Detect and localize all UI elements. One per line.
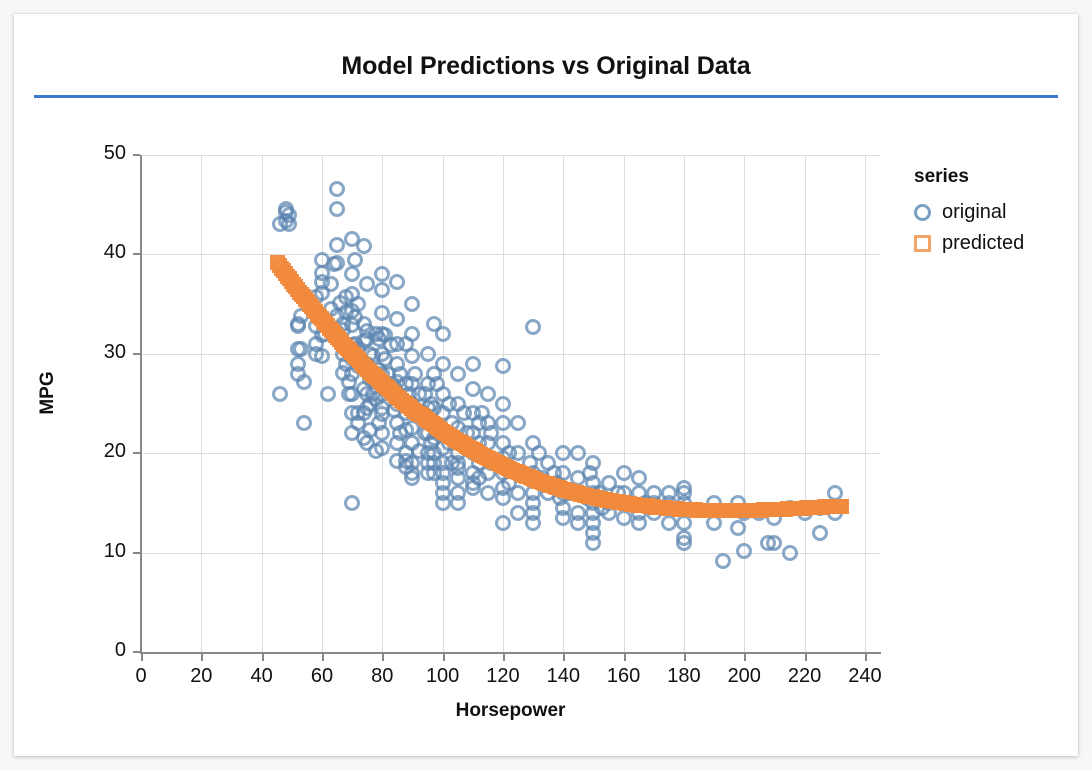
- data-point-original: [495, 490, 511, 506]
- data-point-original: [435, 356, 451, 372]
- data-point-original: [420, 346, 436, 362]
- x-tick-label: 240: [835, 665, 895, 688]
- x-tick: [322, 654, 324, 661]
- data-point-original: [480, 386, 496, 402]
- y-tick: [133, 353, 140, 355]
- data-point-original: [585, 455, 601, 471]
- x-tick-label: 80: [352, 665, 412, 688]
- x-tick-label: 140: [533, 665, 593, 688]
- circle-marker-icon: [914, 204, 931, 221]
- data-point-original: [585, 535, 601, 551]
- data-point-original: [616, 465, 632, 481]
- x-axis-line: [140, 652, 881, 654]
- data-point-original: [329, 255, 345, 271]
- data-point-original: [329, 237, 345, 253]
- x-tick: [744, 654, 746, 661]
- data-point-original: [570, 515, 586, 531]
- data-point-original: [281, 216, 297, 232]
- x-tick: [563, 654, 565, 661]
- data-point-original: [344, 266, 360, 282]
- data-point-original: [495, 415, 511, 431]
- data-point-original: [344, 495, 360, 511]
- data-point-original: [730, 520, 746, 536]
- data-point-original: [555, 510, 571, 526]
- x-tick: [201, 654, 203, 661]
- x-tick-label: 180: [654, 665, 714, 688]
- y-tick: [133, 452, 140, 454]
- y-tick-label: 20: [74, 440, 126, 463]
- data-point-original: [495, 358, 511, 374]
- legend-title: series: [914, 166, 1064, 188]
- data-point-original: [450, 470, 466, 486]
- data-point-original: [510, 485, 526, 501]
- x-tick-label: 20: [171, 665, 231, 688]
- data-point-original: [465, 381, 481, 397]
- data-point-original: [525, 319, 541, 335]
- data-point-original: [450, 366, 466, 382]
- data-point-original: [510, 505, 526, 521]
- data-point-original: [323, 276, 339, 292]
- data-point-original: [450, 495, 466, 511]
- data-point-original: [404, 470, 420, 486]
- data-point-original: [782, 545, 798, 561]
- legend-label-predicted: predicted: [942, 232, 1024, 255]
- x-tick: [624, 654, 626, 661]
- x-tick: [262, 654, 264, 661]
- data-point-original: [314, 348, 330, 364]
- y-tick: [133, 552, 140, 554]
- x-tick-label: 40: [232, 665, 292, 688]
- square-marker-icon: [914, 235, 931, 252]
- data-marker-layer: [141, 155, 880, 652]
- x-tick: [503, 654, 505, 661]
- y-tick-label: 40: [74, 241, 126, 264]
- y-tick: [133, 154, 140, 156]
- data-point-original: [272, 386, 288, 402]
- data-point-original: [480, 485, 496, 501]
- data-point-original: [296, 415, 312, 431]
- x-tick-label: 0: [111, 665, 171, 688]
- data-point-original: [631, 515, 647, 531]
- data-point-original: [389, 311, 405, 327]
- data-point-original: [465, 356, 481, 372]
- data-point-original: [525, 515, 541, 531]
- data-point-original: [347, 252, 363, 268]
- legend-item-predicted[interactable]: predicted: [914, 228, 1064, 259]
- x-tick-label: 160: [594, 665, 654, 688]
- data-point-original: [374, 282, 390, 298]
- data-point-original: [555, 445, 571, 461]
- x-tick: [443, 654, 445, 661]
- plot-wrapper: 020406080100120140160180200220240 010203…: [14, 14, 1078, 756]
- data-point-original: [495, 515, 511, 531]
- legend-item-original[interactable]: original: [914, 197, 1064, 228]
- data-point-original: [570, 445, 586, 461]
- data-point-original: [320, 386, 336, 402]
- data-point-original: [374, 305, 390, 321]
- x-tick-label: 60: [292, 665, 352, 688]
- data-point-original: [293, 341, 309, 357]
- x-tick: [684, 654, 686, 661]
- data-point-original: [350, 296, 366, 312]
- x-tick: [141, 654, 143, 661]
- y-tick: [133, 253, 140, 255]
- x-tick-label: 200: [714, 665, 774, 688]
- data-point-original: [329, 181, 345, 197]
- data-point-original: [404, 296, 420, 312]
- data-point-original: [736, 543, 752, 559]
- data-point-original: [495, 396, 511, 412]
- x-tick: [805, 654, 807, 661]
- data-point-original: [510, 415, 526, 431]
- data-point-original: [374, 440, 390, 456]
- y-tick-label: 0: [74, 639, 126, 662]
- plot-area: [141, 155, 880, 652]
- data-point-original: [766, 535, 782, 551]
- x-tick: [382, 654, 384, 661]
- data-point-original: [812, 525, 828, 541]
- data-point-original: [715, 553, 731, 569]
- y-tick-label: 30: [74, 341, 126, 364]
- legend-label-original: original: [942, 201, 1006, 224]
- data-point-original: [329, 201, 345, 217]
- data-point-original: [404, 348, 420, 364]
- data-point-original: [359, 276, 375, 292]
- y-axis-title: MPG: [37, 353, 59, 433]
- y-axis-line: [140, 155, 142, 653]
- data-point-original: [661, 515, 677, 531]
- x-tick-label: 220: [775, 665, 835, 688]
- data-point-original: [435, 495, 451, 511]
- data-point-predicted: [834, 499, 849, 514]
- legend: series original predicted: [914, 166, 1064, 259]
- y-tick: [133, 651, 140, 653]
- data-point-original: [356, 238, 372, 254]
- data-point-original: [435, 326, 451, 342]
- y-tick-label: 10: [74, 540, 126, 563]
- data-point-original: [374, 425, 390, 441]
- data-point-original: [631, 470, 647, 486]
- data-point-original: [296, 374, 312, 390]
- data-point-original: [404, 326, 420, 342]
- y-tick-label: 50: [74, 142, 126, 165]
- screenshot-root: Model Predictions vs Original Data 02040…: [0, 0, 1092, 770]
- data-point-original: [676, 535, 692, 551]
- x-tick: [865, 654, 867, 661]
- x-tick-label: 100: [413, 665, 473, 688]
- data-point-original: [374, 266, 390, 282]
- x-axis-title: Horsepower: [141, 700, 880, 722]
- x-tick-label: 120: [473, 665, 533, 688]
- data-point-original: [389, 274, 405, 290]
- chart-card: Model Predictions vs Original Data 02040…: [14, 14, 1078, 756]
